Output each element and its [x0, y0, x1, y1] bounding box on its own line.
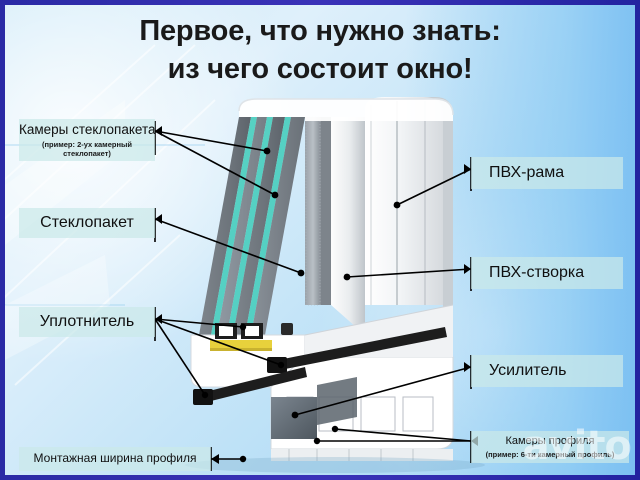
label-seal-title: Уплотнитель	[19, 313, 155, 331]
title-line-1: Первое, что нужно знать:	[5, 13, 635, 51]
label-glass-unit-title: Стеклопакет	[19, 214, 155, 232]
page-title: Первое, что нужно знать: из чего состоит…	[5, 5, 635, 101]
spacer-bar	[305, 117, 331, 305]
label-pvc-frame-title: ПВХ-рама	[489, 164, 623, 182]
label-pvc-frame[interactable]: ПВХ-рама	[471, 157, 623, 189]
gasket-strips	[193, 323, 447, 405]
label-mounting-width-title: Монтажная ширина профиля	[19, 452, 211, 466]
label-reinforcement-title: Усилитель	[489, 362, 623, 380]
label-glass-chambers-title: Камеры стеклопакета	[19, 122, 155, 138]
label-reinforcement[interactable]: Усилитель	[471, 355, 623, 387]
label-pvc-sash[interactable]: ПВХ-створка	[471, 257, 623, 289]
frame-base	[271, 449, 453, 461]
label-glass-chambers[interactable]: Камеры стеклопакета (пример: 2-ух камерн…	[19, 119, 155, 161]
label-profile-chambers[interactable]: Камеры профиля (пример: 6-ти камерный пр…	[471, 431, 629, 463]
label-profile-chambers-title: Камеры профиля	[471, 435, 629, 448]
label-glass-unit[interactable]: Стеклопакет	[19, 208, 155, 238]
title-line-2: из чего состоит окно!	[5, 51, 635, 89]
leader-lines	[155, 121, 478, 471]
sash-bottom-section	[191, 323, 305, 387]
label-seal[interactable]: Уплотнитель	[19, 307, 155, 337]
pvc-sash-body	[263, 97, 453, 345]
label-mounting-width[interactable]: Монтажная ширина профиля	[19, 447, 211, 471]
background-glow-right	[285, 155, 635, 475]
slide-root: Первое, что нужно знать: из чего состоит…	[0, 0, 640, 480]
frame-lower-body	[271, 305, 453, 449]
slide-canvas: Первое, что нужно знать: из чего состоит…	[5, 5, 635, 475]
label-glass-chambers-sub: (пример: 2-ух камерныйстеклопакет)	[19, 140, 155, 158]
glazing-unit	[197, 117, 305, 343]
profile-top-cap	[239, 99, 453, 121]
pvc-frame-body	[365, 97, 453, 335]
label-profile-chambers-sub: (пример: 6-ти камерный профиль)	[471, 450, 629, 459]
label-pvc-sash-title: ПВХ-створка	[489, 264, 623, 282]
